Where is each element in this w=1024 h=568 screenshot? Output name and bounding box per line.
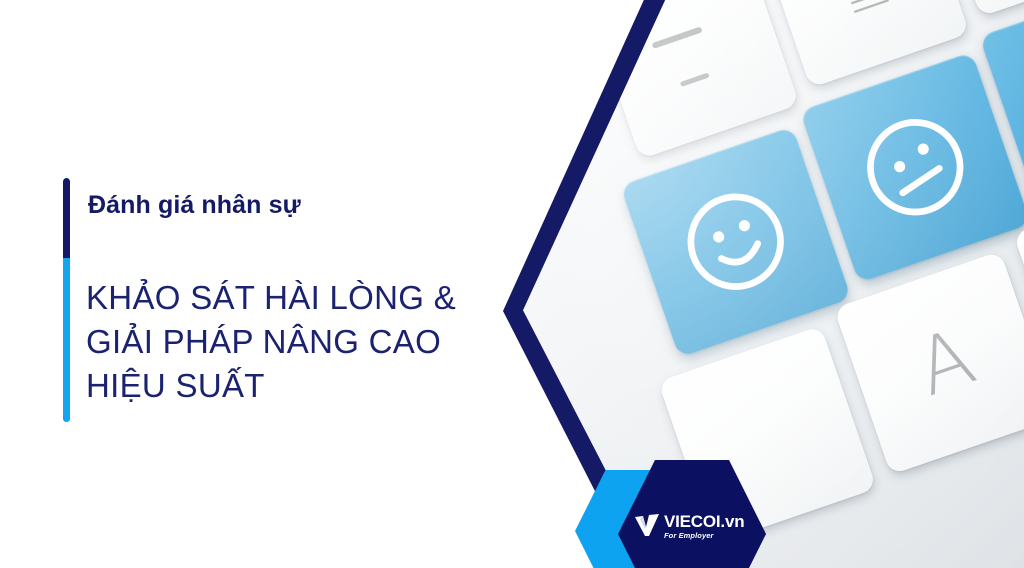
eyebrow-label: Đánh giá nhân sự [88, 190, 301, 220]
page-title: Khảo sát hài lòng & giải pháp nâng cao h… [86, 276, 486, 408]
letter-a-key: A [834, 251, 1024, 475]
minus-icon-small [680, 72, 710, 86]
banner-canvas: + = [0, 0, 1024, 568]
accent-bar-navy-segment [63, 178, 70, 258]
minus-icon [652, 26, 703, 49]
accent-bar [63, 178, 70, 422]
viecoi-logo[interactable]: VIECOI.vn For Employer [634, 513, 744, 540]
accent-bar-blue-segment [63, 258, 70, 422]
text-panel: Đánh giá nhân sự Khảo sát hài lòng & giả… [0, 0, 500, 568]
bird-check-mark-icon [634, 514, 660, 538]
letter-a-icon: A [834, 251, 1024, 475]
logo-name: VIECOI.vn [664, 512, 744, 531]
keyboard-surface: + = [512, 0, 1024, 568]
keyboard-photo-hexagon: + = [512, 0, 1024, 568]
logo-tagline: For Employer [664, 532, 744, 540]
